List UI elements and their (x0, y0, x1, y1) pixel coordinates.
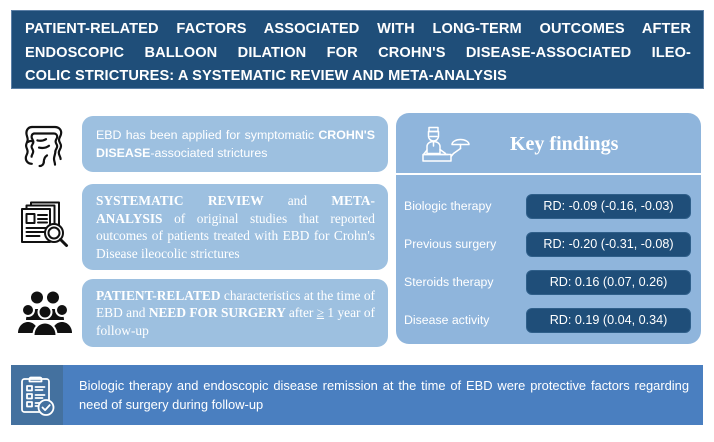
infographic-poster: PATIENT-RELATED FACTORS ASSOCIATED WITH … (0, 0, 714, 442)
poster-title-banner: PATIENT-RELATED FACTORS ASSOCIATED WITH … (11, 10, 704, 89)
finding-row: Steroids therapy RD: 0.16 (0.07, 0.26) (404, 263, 691, 301)
finding-label: Steroids therapy (404, 275, 526, 289)
conclusion-banner: Biologic therapy and endoscopic disease … (11, 365, 703, 425)
key-findings-title: Key findings (510, 133, 618, 156)
surgeon-operating-icon (416, 120, 472, 168)
info-bubble-3-text: PATIENT-RELATED characteristics at the t… (96, 287, 375, 340)
info-bubble-2: SYSTEMATIC REVIEW and META-ANALYSIS of o… (82, 184, 388, 270)
finding-row: Previous surgery RD: -0.20 (-0.31, -0.08… (404, 225, 691, 263)
finding-value-chip: RD: -0.20 (-0.31, -0.08) (526, 232, 691, 257)
key-findings-header: Key findings (396, 113, 701, 175)
info-row-background: SYSTEMATIC REVIEW and META-ANALYSIS of o… (8, 184, 388, 270)
documents-search-icon (8, 200, 82, 254)
key-findings-list: Biologic therapy RD: -0.09 (-0.16, -0.03… (396, 175, 701, 339)
clipboard-check-icon (11, 365, 63, 425)
people-group-icon (8, 289, 82, 337)
header-divider (396, 173, 701, 175)
finding-row: Disease activity RD: 0.19 (0.04, 0.34) (404, 301, 691, 339)
info-bubble-1: EBD has been applied for symptomatic CRO… (82, 116, 388, 172)
finding-label: Disease activity (404, 313, 526, 327)
info-bubble-1-text: EBD has been applied for symptomatic CRO… (96, 126, 375, 162)
info-row-background: PATIENT-RELATED characteristics at the t… (8, 282, 388, 344)
finding-value-chip: RD: 0.19 (0.04, 0.34) (526, 308, 691, 333)
page-title-line-2: ENDOSCOPIC BALLOON DILATION FOR CROHN'S … (25, 42, 691, 66)
info-bubble-2-text: SYSTEMATIC REVIEW and META-ANALYSIS of o… (96, 192, 375, 262)
info-bubble-3: PATIENT-RELATED characteristics at the t… (82, 279, 388, 348)
info-row-background: EBD has been applied for symptomatic CRO… (8, 116, 388, 172)
finding-row: Biologic therapy RD: -0.09 (-0.16, -0.03… (404, 187, 691, 225)
key-findings-panel: Key findings Biologic therapy RD: -0.09 … (396, 113, 701, 344)
finding-label: Previous surgery (404, 237, 526, 251)
conclusion-text: Biologic therapy and endoscopic disease … (63, 376, 703, 415)
finding-value-chip: RD: -0.09 (-0.16, -0.03) (526, 194, 691, 219)
intestine-icon (8, 118, 82, 170)
finding-label: Biologic therapy (404, 199, 526, 213)
finding-value-chip: RD: 0.16 (0.07, 0.26) (526, 270, 691, 295)
page-title-line-3: COLIC STRICTURES: A SYSTEMATIC REVIEW AN… (25, 65, 691, 89)
left-column: EBD has been applied for symptomatic CRO… (8, 110, 388, 350)
page-title-line-1: PATIENT-RELATED FACTORS ASSOCIATED WITH … (25, 18, 691, 42)
